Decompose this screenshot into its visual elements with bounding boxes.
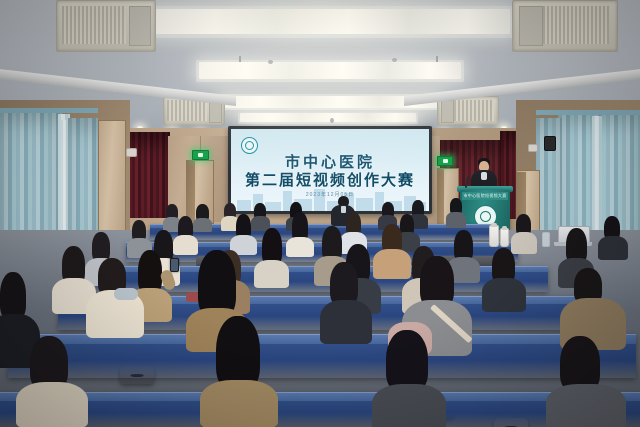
wall-control-box-left[interactable] (126, 148, 137, 157)
smoke-detector (268, 60, 273, 64)
smoke-detector (392, 58, 397, 62)
conference-hall-photo: 市中心医院 第二届短视频创作大赛 2023年12月05日 市中心医院短视频大赛 (0, 0, 640, 427)
ac-vent-top-left (56, 0, 156, 52)
light-hanger-right (436, 56, 438, 62)
screen-title-line2: 第二届短视频创作大赛 (231, 169, 429, 190)
ceiling-light-panel-4 (240, 113, 416, 122)
scarf (114, 288, 138, 300)
podium-banner: 市中心医院短视频大赛 (462, 192, 508, 200)
wall-control-box-right[interactable] (528, 144, 538, 152)
door-back-left-opening (186, 160, 195, 222)
ceiling-light-panel-2 (199, 62, 461, 79)
light-hanger-left (239, 56, 241, 62)
wall-speaker-right (544, 136, 556, 151)
presenter-shirt (481, 172, 487, 180)
curtain-valance-left (0, 108, 98, 113)
sprinkler-head (330, 118, 334, 123)
projection-screen[interactable]: 市中心医院 第二届短视频创作大赛 2023年12月05日 (231, 129, 429, 211)
door-back-right-opening (437, 168, 444, 224)
smartphone[interactable] (170, 258, 179, 272)
thermos-flask (489, 225, 499, 247)
ac-vent-top-right (512, 0, 618, 52)
exit-sign-right (437, 156, 453, 166)
screen-date-line: 2023年12月05日 (231, 191, 429, 198)
table-top (0, 392, 640, 401)
ceiling-light-panel-1 (150, 9, 510, 34)
thermos-flask (500, 228, 509, 247)
exit-sign-left (192, 150, 209, 160)
water-bottle (542, 232, 550, 247)
curtain-valance-right (536, 110, 640, 115)
